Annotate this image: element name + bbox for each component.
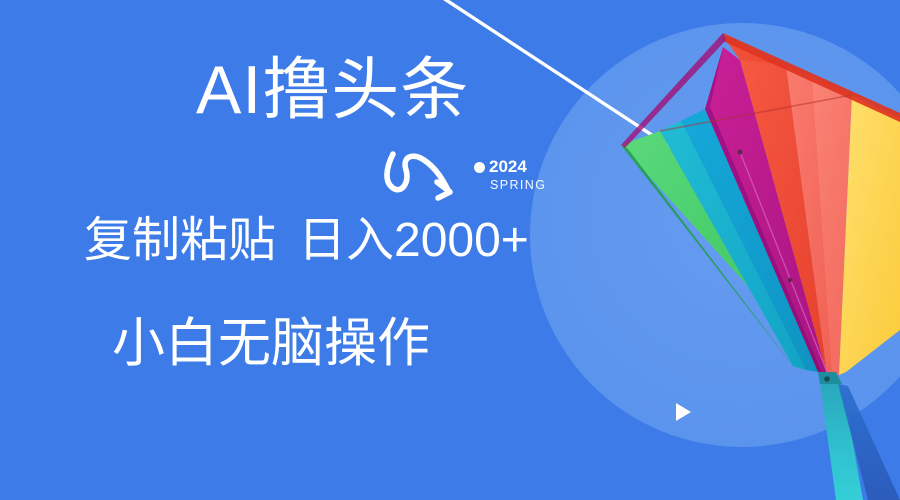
tail-knot <box>824 376 830 382</box>
poster-canvas: AI撸头条 复制粘贴日入2000+ 小白无脑操作 2024 SPRING <box>0 0 900 500</box>
kite-bridle-knot-lower <box>788 278 792 282</box>
kite-bridle-knot-upper <box>737 149 742 154</box>
poster-artwork <box>0 0 900 500</box>
